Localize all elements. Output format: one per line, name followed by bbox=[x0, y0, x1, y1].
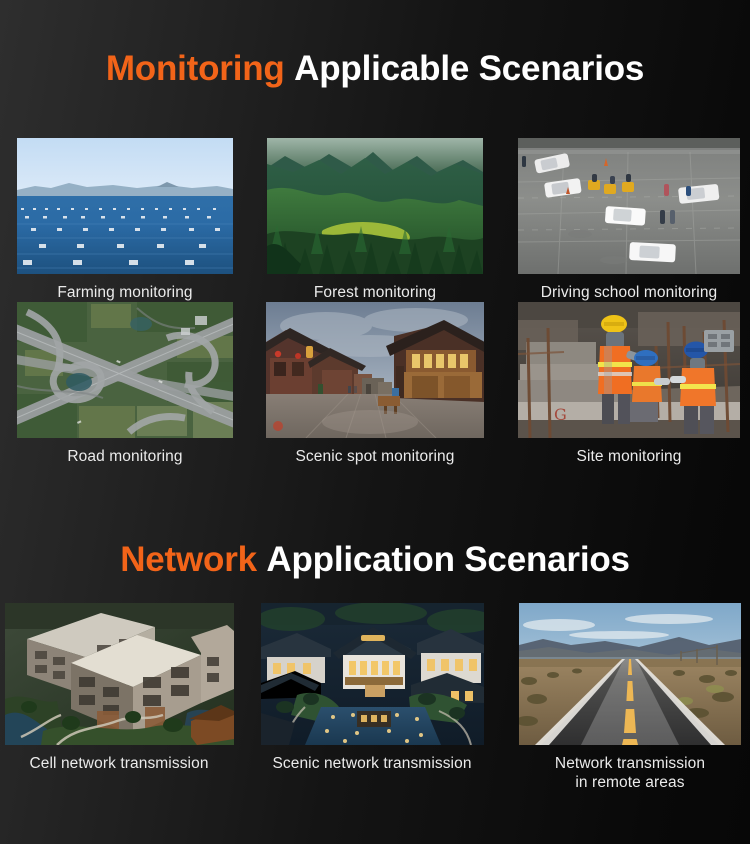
scenario-card-forest[interactable]: Forest monitoring bbox=[250, 138, 500, 302]
aerial-highway-interchange-photo bbox=[17, 302, 233, 438]
scenario-card-scenic-spot[interactable]: Scenic spot monitoring bbox=[250, 302, 500, 466]
scenario-caption-scenic-network: Scenic network transmission bbox=[272, 754, 471, 773]
heading-plain-monitoring: Applicable Scenarios bbox=[294, 49, 644, 88]
scenario-card-site[interactable]: G Site monitoring bbox=[500, 302, 750, 466]
sea-aquaculture-buoys-photo bbox=[17, 138, 233, 274]
chinese-resort-at-dusk-lit-photo bbox=[261, 603, 484, 745]
scenario-card-driving-school[interactable]: Driving school monitoring bbox=[500, 138, 750, 302]
scenario-card-cell-network[interactable]: Cell network transmission bbox=[0, 603, 250, 792]
scenario-card-scenic-network[interactable]: Scenic network transmission bbox=[250, 603, 500, 792]
scenario-caption-cell-network: Cell network transmission bbox=[29, 754, 208, 773]
scenario-caption-farming: Farming monitoring bbox=[57, 283, 192, 302]
heading-plain-network: Application Scenarios bbox=[266, 540, 629, 579]
scenarios-page: Monitoring Applicable Scenarios bbox=[0, 0, 750, 844]
scenario-card-remote-network[interactable]: Network transmission in remote areas bbox=[500, 603, 750, 792]
scenario-caption-site: Site monitoring bbox=[577, 447, 682, 466]
scenario-caption-road: Road monitoring bbox=[67, 447, 182, 466]
heading-accent-network: Network bbox=[120, 540, 257, 579]
scenario-caption-remote-network: Network transmission in remote areas bbox=[555, 754, 705, 792]
scenario-caption-scenic-spot: Scenic spot monitoring bbox=[295, 447, 454, 466]
construction-workers-rebar-photo: G bbox=[518, 302, 740, 438]
heading-accent-monitoring: Monitoring bbox=[106, 49, 285, 88]
aerial-residential-apartment-complex-photo bbox=[5, 603, 234, 745]
aerial-driving-school-lot-cars-photo bbox=[518, 138, 740, 274]
chinese-old-town-street-photo bbox=[266, 302, 484, 438]
network-scenario-grid: Cell network transmission bbox=[0, 603, 750, 792]
scenario-caption-forest: Forest monitoring bbox=[314, 283, 436, 302]
scenario-card-road[interactable]: Road monitoring bbox=[0, 302, 250, 466]
section-heading-monitoring: Monitoring Applicable Scenarios bbox=[0, 47, 750, 91]
section-heading-network: Network Application Scenarios bbox=[0, 538, 750, 582]
desert-highway-vanishing-point-photo bbox=[519, 603, 741, 745]
monitoring-scenario-grid: Farming monitoring bbox=[0, 138, 750, 466]
scenario-card-farming[interactable]: Farming monitoring bbox=[0, 138, 250, 302]
svg-text:G: G bbox=[554, 405, 567, 424]
green-forested-mountain-valley-photo bbox=[267, 138, 483, 274]
scenario-caption-driving-school: Driving school monitoring bbox=[541, 283, 718, 302]
